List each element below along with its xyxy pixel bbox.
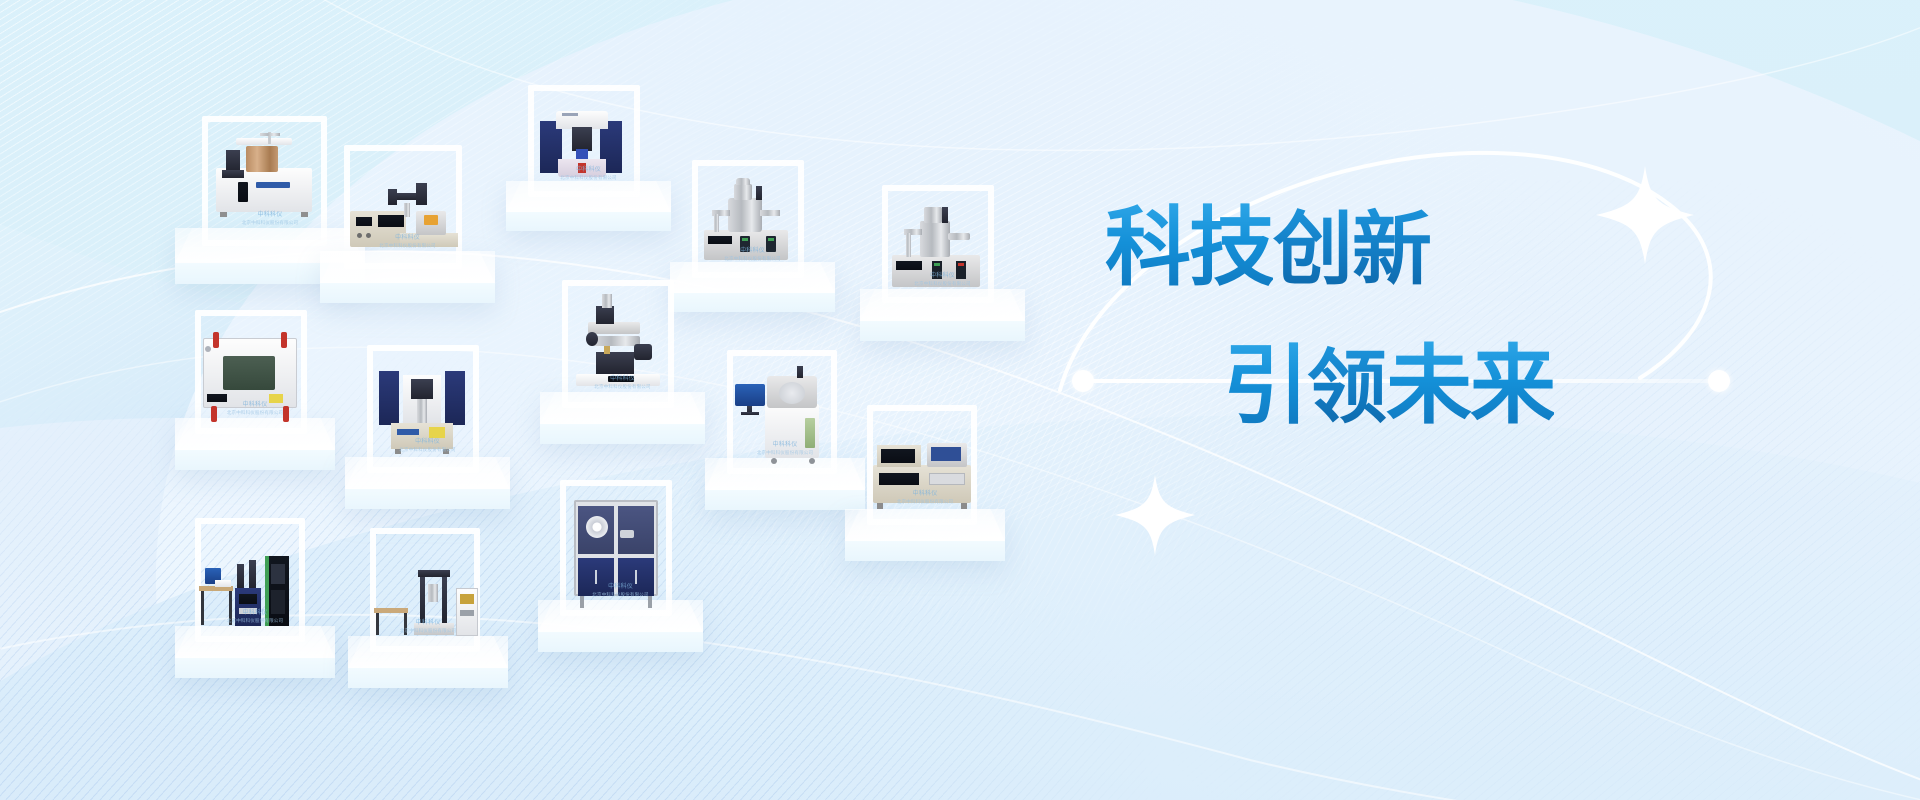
headline-line2-bold-tail: 未来 [1386, 336, 1554, 436]
headline-line-2: 引领未来 [1105, 343, 1665, 429]
headline-line1-thin: 创新 [1273, 203, 1431, 296]
headline-line2-thin: 领 [1307, 341, 1386, 434]
node-dot-right [1708, 370, 1730, 392]
sparkle-star-icon [1110, 470, 1200, 560]
hero-banner: 中科科仪 北京中科科仪股份有限公司 [0, 0, 1920, 800]
headline-line2-bold: 引 [1223, 336, 1307, 436]
headline-line-1: 科技创新 [1105, 205, 1665, 291]
node-dot-left [1072, 370, 1094, 392]
headline-line1-bold: 科技 [1105, 198, 1273, 298]
headline-block: 科技创新 引领未来 [1105, 205, 1665, 429]
